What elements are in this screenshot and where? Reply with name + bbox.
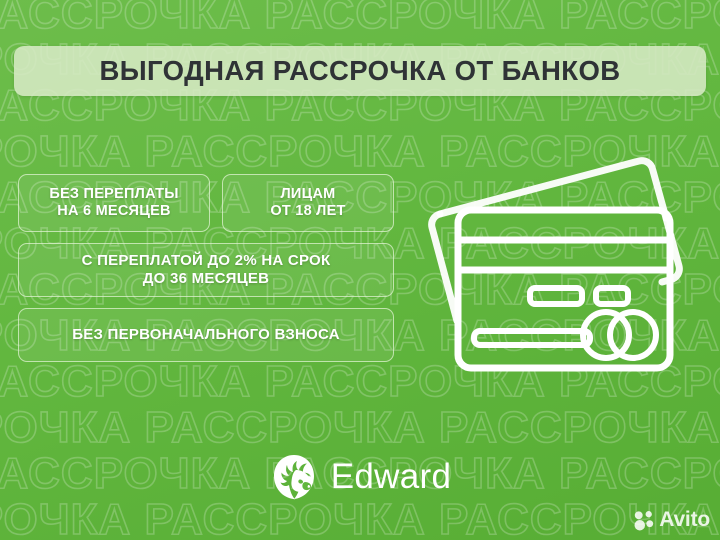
credit-cards-icon [426, 150, 702, 390]
feature-box-no-downpayment: БЕЗ ПЕРВОНАЧАЛЬНОГО ВЗНОСА [18, 308, 394, 362]
feature-box-text: БЕЗ ПЕРВОНАЧАЛЬНОГО ВЗНОСА [72, 326, 340, 344]
feature-line-1: БЕЗ ПЕРВОНАЧАЛЬНОГО ВЗНОСА [72, 326, 340, 343]
avito-dots-icon [634, 510, 655, 531]
brand-name: Edward [331, 457, 451, 497]
feature-box-overpay-term: С ПЕРЕПЛАТОЙ ДО 2% НА СРОК ДО 36 МЕСЯЦЕВ [18, 243, 394, 297]
feature-box-text: БЕЗ ПЕРЕПЛАТЫ НА 6 МЕСЯЦЕВ [49, 186, 178, 220]
feature-box-text: ЛИЦАМ ОТ 18 ЛЕТ [270, 186, 345, 220]
feature-line-2: ДО 36 МЕСЯЦЕВ [143, 270, 270, 287]
feature-box-no-overpay: БЕЗ ПЕРЕПЛАТЫ НА 6 МЕСЯЦЕВ [18, 174, 210, 232]
feature-list: БЕЗ ПЕРЕПЛАТЫ НА 6 МЕСЯЦЕВ ЛИЦАМ ОТ 18 Л… [18, 174, 394, 373]
promo-banner: РАССРОЧКА РАССРОЧКА РАССРОЧКА РАС РАССРО… [0, 0, 720, 540]
feature-row-1: БЕЗ ПЕРЕПЛАТЫ НА 6 МЕСЯЦЕВ ЛИЦАМ ОТ 18 Л… [18, 174, 394, 232]
headline-text: ВЫГОДНАЯ РАССРОЧКА ОТ БАНКОВ [99, 55, 620, 87]
feature-line-2: НА 6 МЕСЯЦЕВ [57, 203, 170, 219]
feature-box-text: С ПЕРЕПЛАТОЙ ДО 2% НА СРОК ДО 36 МЕСЯЦЕВ [82, 252, 331, 287]
feature-row-2: С ПЕРЕПЛАТОЙ ДО 2% НА СРОК ДО 36 МЕСЯЦЕВ [18, 243, 394, 297]
avito-wordmark: Avito [659, 508, 710, 532]
feature-line-1: БЕЗ ПЕРЕПЛАТЫ [49, 186, 178, 202]
feature-line-2: ОТ 18 ЛЕТ [270, 203, 345, 219]
feature-line-1: С ПЕРЕПЛАТОЙ ДО 2% НА СРОК [82, 252, 331, 269]
feature-row-3: БЕЗ ПЕРВОНАЧАЛЬНОГО ВЗНОСА [18, 308, 394, 362]
background-pattern-row: РАССРОЧКА РАССРОЧКА РАССРОЧКА РАС [0, 0, 720, 36]
headline-banner: ВЫГОДНАЯ РАССРОЧКА ОТ БАНКОВ [14, 46, 706, 96]
avito-watermark: Avito [634, 508, 710, 532]
brand-logo: Edward [0, 452, 720, 502]
lion-head-icon [269, 452, 319, 502]
background-pattern-row: РАССРОЧКА РАССРОЧКА РАССРОЧКА РАС [0, 498, 720, 540]
feature-line-1: ЛИЦАМ [281, 186, 336, 202]
feature-box-age-limit: ЛИЦАМ ОТ 18 ЛЕТ [222, 174, 394, 232]
background-pattern-row: РАССРОЧКА РАССРОЧКА РАССРОЧКА РАС [0, 406, 720, 450]
